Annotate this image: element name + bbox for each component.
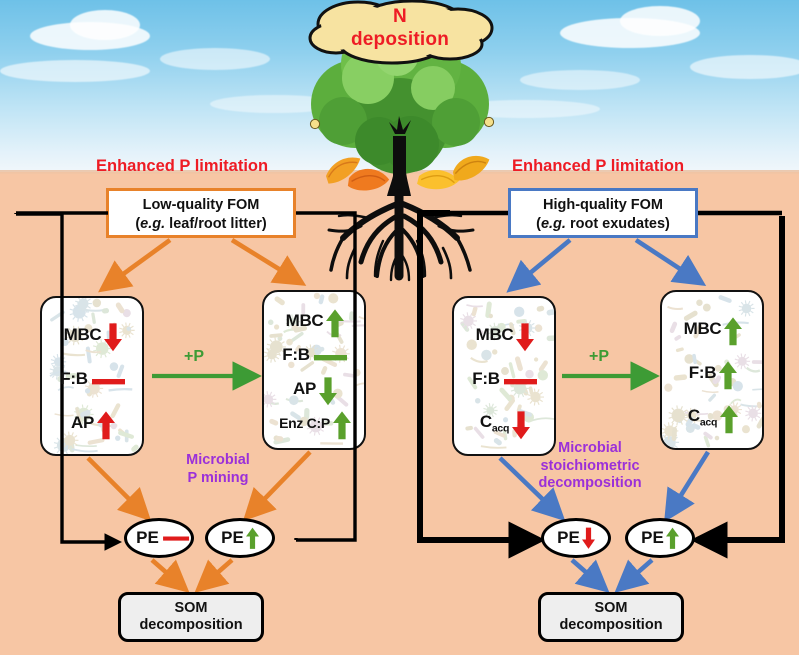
trend-flat-icon [313, 340, 346, 370]
microbe-metric-label: MBC [684, 319, 722, 339]
trend-up-icon [665, 525, 679, 551]
trend-up-icon [333, 408, 349, 438]
microbe-metric-label: F:B [472, 369, 499, 389]
som-left-line2: decomposition [139, 617, 242, 634]
trend-down-icon [581, 525, 595, 551]
mechanism-label-p-mining: Microbial P mining [163, 452, 273, 487]
microbe-box-high-quality-ndep[interactable]: MBCF:BCacq [452, 296, 556, 456]
trend-down-icon [512, 408, 528, 438]
fom-box-low-quality[interactable]: Low-quality FOM (e.g. leaf/root litter) [106, 188, 296, 238]
microbe-metric-label: Cacq [480, 412, 509, 434]
microbe-metric-row: F:B [454, 364, 554, 394]
microbe-metric-label: Cacq [688, 406, 717, 428]
microbe-metric-row: MBC [662, 314, 762, 344]
fom-left-line2: (e.g. leaf/root litter) [109, 215, 293, 234]
n-deposition-label: N deposition [300, 5, 500, 51]
microbe-metric-row: F:B [42, 364, 142, 394]
microbe-box-high-quality-plusp[interactable]: MBCF:BCacq [660, 290, 764, 450]
diagram-canvas: N deposition [0, 0, 799, 655]
fom-left-line1: Low-quality FOM [109, 196, 293, 215]
trend-down-icon [319, 374, 335, 404]
trend-up-icon [719, 358, 735, 388]
priming-effect-label: PE [641, 528, 664, 548]
microbe-box-low-quality-ndep[interactable]: MBCF:BAP [40, 296, 144, 456]
n-deposition-line1: N [300, 5, 500, 28]
trend-up-icon [245, 525, 259, 551]
fom-right-rest: root exudates) [566, 216, 670, 232]
microbe-metric-label: F:B [689, 363, 716, 383]
microbe-metric-row: F:B [662, 358, 762, 388]
microbe-metric-label: Enz C:P [279, 415, 330, 431]
microbe-metric-row: MBC [454, 320, 554, 350]
n-deposition-line2: deposition [300, 28, 500, 51]
som-right-line2: decomposition [559, 617, 662, 634]
microbe-metric-row: AP [264, 374, 364, 404]
trend-up-icon [97, 408, 113, 438]
fom-right-line2: (e.g. root exudates) [511, 215, 695, 234]
trend-flat-icon [160, 525, 182, 551]
trend-up-icon [326, 306, 342, 336]
microbe-metric-label: MBC [476, 325, 514, 345]
microbe-metric-label: F:B [282, 345, 309, 365]
n-deposition-cloud: N deposition [300, 0, 500, 66]
microbe-metric-row: Cacq [662, 402, 762, 432]
microbe-metric-label: AP [71, 413, 94, 433]
trend-flat-icon [503, 364, 536, 394]
header-left-p-limitation: Enhanced P limitation [96, 157, 268, 176]
som-left-line1: SOM [174, 600, 207, 617]
mechanism-label-stoichiometric: Microbial stoichiometric decomposition [520, 440, 660, 493]
microbe-metric-label: MBC [286, 311, 324, 331]
microbe-metric-subscript: acq [700, 416, 717, 428]
priming-effect-label: PE [136, 528, 159, 548]
microbe-metric-label: AP [293, 379, 316, 399]
microbe-box-low-quality-plusp[interactable]: MBCF:BAPEnz C:P [262, 290, 366, 450]
microbe-metric-row: AP [42, 408, 142, 438]
microbe-metric-label: F:B [60, 369, 87, 389]
microbe-metric-row: MBC [264, 306, 364, 336]
microbe-metric-row: Cacq [454, 408, 554, 438]
priming-effect-node-1[interactable]: PE [124, 518, 194, 558]
header-right-p-limitation: Enhanced P limitation [512, 157, 684, 176]
microbe-metric-row: MBC [42, 320, 142, 350]
som-decomposition-box-left[interactable]: SOM decomposition [118, 592, 264, 642]
microbe-metric-label: MBC [64, 325, 102, 345]
priming-effect-node-2[interactable]: PE [205, 518, 275, 558]
trend-up-icon [720, 402, 736, 432]
fom-right-eg: e.g. [541, 216, 566, 232]
fom-left-rest: leaf/root litter) [165, 216, 267, 232]
trend-down-icon [516, 320, 532, 350]
fom-right-line1: High-quality FOM [511, 196, 695, 215]
trend-down-icon [104, 320, 120, 350]
fom-box-high-quality[interactable]: High-quality FOM (e.g. root exudates) [508, 188, 698, 238]
microbe-metric-row: F:B [264, 340, 364, 370]
microbe-metric-row: Enz C:P [264, 408, 364, 438]
priming-effect-node-3[interactable]: PE [541, 518, 611, 558]
plus-p-label-right: +P [589, 348, 609, 366]
priming-effect-label: PE [221, 528, 244, 548]
priming-effect-node-4[interactable]: PE [625, 518, 695, 558]
som-decomposition-box-right[interactable]: SOM decomposition [538, 592, 684, 642]
trend-up-icon [724, 314, 740, 344]
fom-left-eg: e.g. [140, 216, 165, 232]
trend-flat-icon [91, 364, 124, 394]
plus-p-label-left: +P [184, 348, 204, 366]
microbe-metric-subscript: acq [492, 422, 509, 434]
priming-effect-label: PE [557, 528, 580, 548]
som-right-line1: SOM [594, 600, 627, 617]
